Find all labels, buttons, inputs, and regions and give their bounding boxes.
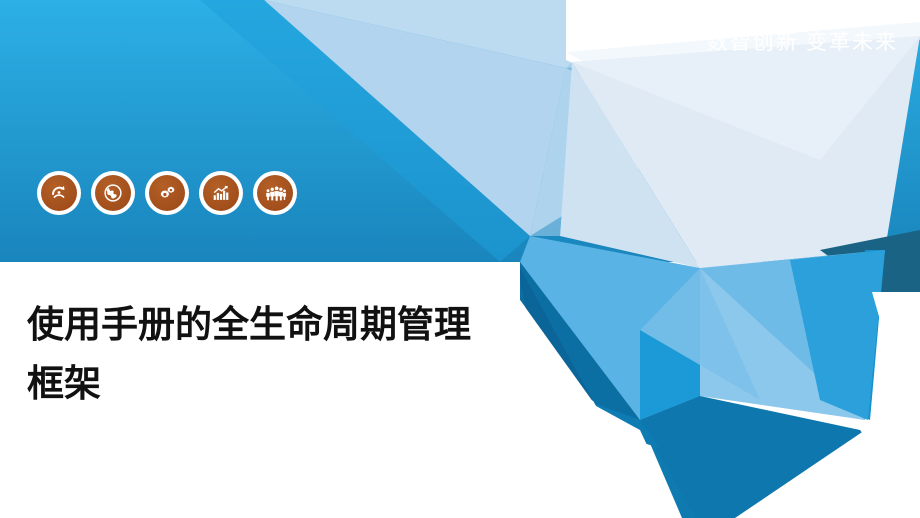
- slide-title: 使用手册的全生命周期管理 框架: [27, 295, 567, 413]
- slide-tagline: 数智创新 变革未来: [707, 26, 898, 56]
- gears-icon: [149, 175, 185, 211]
- icon-badge-people-group: [253, 171, 297, 215]
- low-poly-geometric-artwork: [0, 0, 920, 518]
- recycle-arrow-icon: [41, 175, 77, 211]
- icon-badge-bar-chart-growth: [199, 171, 243, 215]
- people-group-icon: [257, 175, 293, 211]
- icon-badge-recycle-arrow: [37, 171, 81, 215]
- mask-white-right-2: [872, 292, 920, 320]
- presentation-title-slide: 数智创新 变革未来: [0, 0, 920, 518]
- icon-badge-gears: [145, 171, 189, 215]
- icon-badge-row: [37, 171, 297, 215]
- slide-title-line-2: 框架: [27, 354, 567, 413]
- bar-chart-growth-icon: [203, 175, 239, 211]
- icon-badge-globe: [91, 171, 135, 215]
- slide-title-line-1: 使用手册的全生命周期管理: [27, 295, 567, 354]
- globe-icon: [95, 175, 131, 211]
